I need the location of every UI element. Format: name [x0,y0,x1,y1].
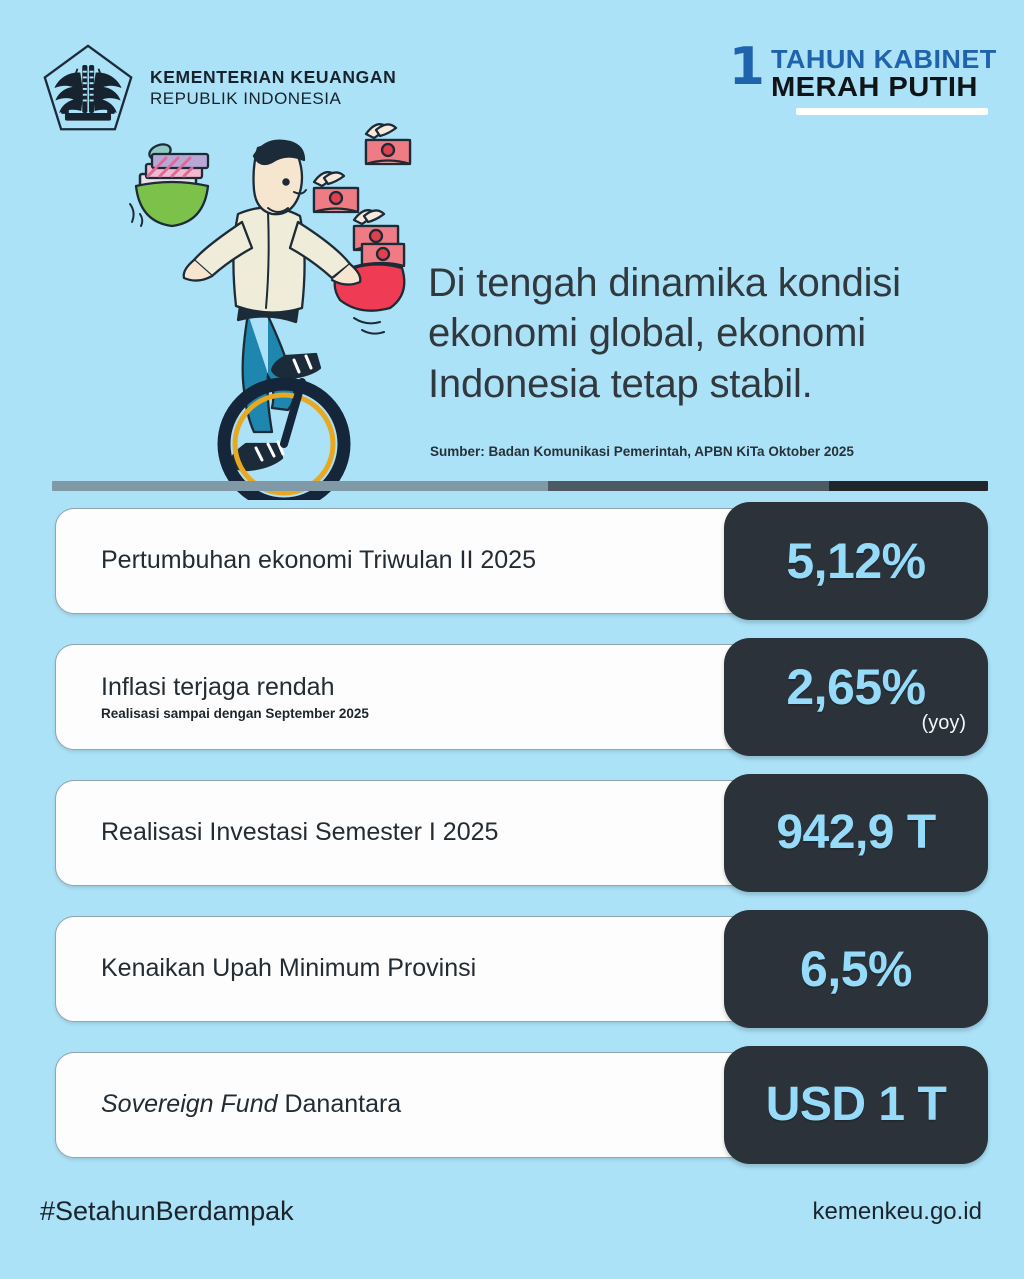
winged-banknote-icon [366,124,410,164]
ministry-line-1: KEMENTERIAN KEUANGAN [150,68,396,88]
stat-label: Kenaikan Upah Minimum Provinsi [101,954,754,984]
footer: #SetahunBerdampak kemenkeu.go.id [0,1196,1024,1256]
stat-label: Pertumbuhan ekonomi Triwulan II 2025 [101,546,754,576]
campaign-number: 1 [729,46,765,90]
list-item: Kenaikan Upah Minimum Provinsi 6,5% [0,910,1024,1028]
stat-label: Realisasi Investasi Semester I 2025 [101,818,754,848]
campaign-badge: 1 TAHUN KABINET MERAH PUTIH [729,46,988,115]
stat-value: 6,5% [800,944,912,994]
source-note: Sumber: Badan Komunikasi Pemerintah, APB… [430,444,990,459]
list-item: Realisasi Investasi Semester I 2025 942,… [0,774,1024,892]
divider-segment-mid [548,481,829,491]
stat-value: USD 1 T [766,1081,947,1129]
stat-label: Inflasi terjaga rendah [101,673,754,703]
divider-segment-light [52,481,548,491]
stat-card-label-panel: Kenaikan Upah Minimum Provinsi [55,916,755,1022]
campaign-line-2: MERAH PUTIH [771,73,978,102]
campaign-underline [796,108,988,115]
man-juggling-money-on-unicycle-illustration [118,104,448,500]
stat-value-chip: 2,65% (yoy) [724,638,988,756]
section-divider [52,481,988,491]
stat-value: 5,12% [786,536,925,586]
stat-value-chip: 5,12% [724,502,988,620]
stat-value: 942,9 T [776,809,935,857]
stat-card-label-panel: Realisasi Investasi Semester I 2025 [55,780,755,886]
stat-card-label-panel: Inflasi terjaga rendah Realisasi sampai … [55,644,755,750]
green-bowl-of-money [136,154,208,226]
website-url[interactable]: kemenkeu.go.id [813,1198,982,1226]
list-item: Inflasi terjaga rendah Realisasi sampai … [0,638,1024,756]
stat-value-chip: 6,5% [724,910,988,1028]
page-title: Di tengah dinamika kondisi ekonomi globa… [428,258,980,409]
stat-sublabel: Realisasi sampai dengan September 2025 [101,706,754,721]
divider-segment-dark [829,481,988,491]
stat-value-chip: 942,9 T [724,774,988,892]
stat-value: 2,65% [786,662,925,712]
winged-banknote-icon [314,172,358,212]
ministry-name: KEMENTERIAN KEUANGAN REPUBLIK INDONESIA [150,68,396,109]
infographic-page: KEMENTERIAN KEUANGAN REPUBLIK INDONESIA … [0,0,1024,1279]
campaign-line-1: TAHUN KABINET [771,46,997,73]
stat-value-chip: USD 1 T [724,1046,988,1164]
list-item: Pertumbuhan ekonomi Triwulan II 2025 5,1… [0,502,1024,620]
list-item: Sovereign Fund Danantara USD 1 T [0,1046,1024,1164]
stat-value-suffix: (yoy) [922,713,966,733]
stat-card-label-panel: Pertumbuhan ekonomi Triwulan II 2025 [55,508,755,614]
stat-label: Sovereign Fund Danantara [101,1090,754,1120]
campaign-hashtag: #SetahunBerdampak [40,1196,294,1227]
stat-card-label-panel: Sovereign Fund Danantara [55,1052,755,1158]
statistics-list: Pertumbuhan ekonomi Triwulan II 2025 5,1… [0,502,1024,1182]
stat-label-italic-part: Sovereign Fund [101,1090,278,1118]
stat-label-rest: Danantara [278,1090,402,1118]
